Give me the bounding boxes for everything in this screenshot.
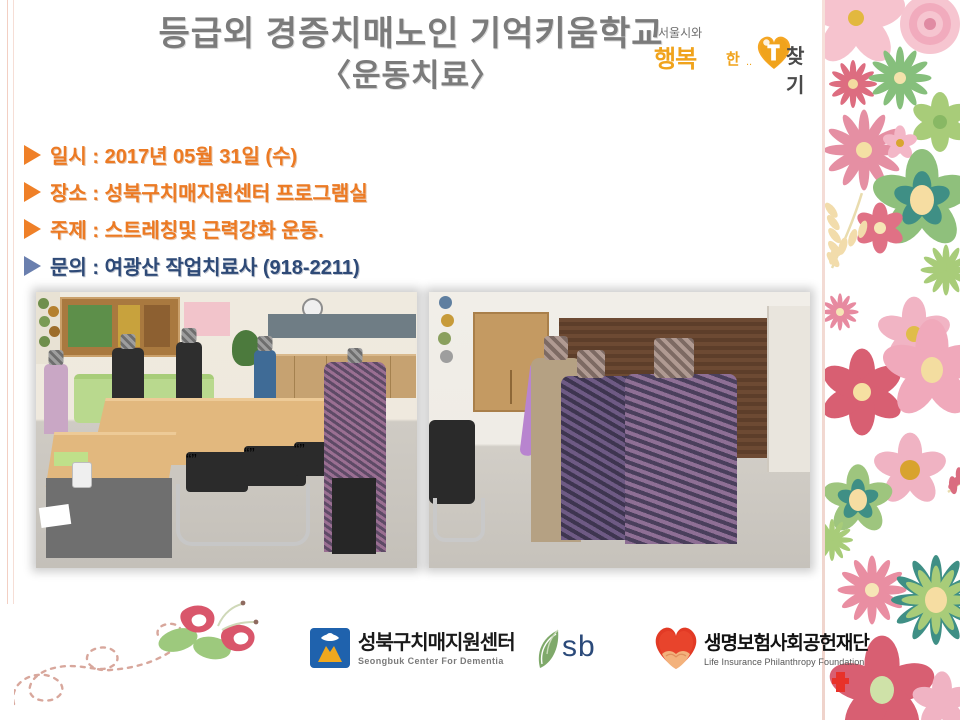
footer-logos: 성북구치매지원센터 Seongbuk Center For Dementia s… [300, 622, 820, 684]
seongbuk-center-name-ko: 성북구치매지원센터 [358, 626, 515, 655]
list-item-label-topic: 주제 : 스트레칭및 근력강화 운동. [50, 214, 324, 243]
list-item-label-place: 장소 : 성북구치매지원센터 프로그램실 [50, 177, 368, 206]
life-insurance-foundation-text: 생명보험사회공헌재단 Life Insurance Philanthropy F… [704, 628, 869, 667]
seongbuk-center-text: 성북구치매지원센터 Seongbuk Center For Dementia [358, 626, 515, 666]
triangle-bullet-icon [24, 219, 41, 239]
participant-foreground [324, 362, 386, 552]
participant [44, 364, 68, 434]
list-item-label-date: 일시 : 2017년 05월 31일 (수) [50, 140, 297, 169]
floral-pattern-svg [822, 0, 960, 720]
triangle-bullet-icon [24, 182, 41, 202]
chair-frame [176, 484, 310, 546]
list-item: 장소 : 성북구치매지원센터 프로그램실 [24, 173, 584, 210]
hands-heart-icon [652, 626, 700, 670]
dotted-trail-icon [14, 624, 182, 704]
office-chair [429, 420, 475, 504]
butterfly-and-trail-svg [14, 586, 304, 706]
sb-leaf-icon [536, 628, 562, 672]
whiteboard [268, 314, 416, 338]
list-item: 일시 : 2017년 05월 31일 (수) [24, 136, 584, 173]
brand-logo-small-text: 한 [726, 48, 740, 69]
sb-wordmark: sb [562, 630, 596, 664]
participant [254, 350, 276, 404]
brand-logo-main-text: 행복 [654, 39, 696, 74]
triangle-bullet-icon [24, 256, 41, 276]
triangle-bullet-icon [24, 145, 41, 165]
bp-monitor [72, 462, 92, 488]
butterfly-icon [156, 601, 259, 663]
photo-gallery [36, 292, 810, 568]
seongbuk-center-name-en: Seongbuk Center For Dementia [358, 656, 515, 666]
life-insurance-name-en: Life Insurance Philanthropy Foundation [704, 657, 869, 667]
seoul-happiness-brand-logo: 서울시와 행복 한 .. 찾기 [652, 24, 812, 82]
list-item: 주제 : 스트레칭및 근력강화 운동. [24, 210, 584, 247]
floral-band-edge-rule [822, 0, 825, 720]
floral-border-pattern [822, 0, 960, 720]
life-insurance-name-ko: 생명보험사회공헌재단 [704, 628, 869, 655]
seongbuk-person-mark-icon [310, 628, 350, 668]
brand-logo-dots: .. [746, 56, 752, 68]
office-chair-frame [433, 498, 485, 542]
photo-partner-shoulder-exercise [429, 292, 810, 568]
slide-canvas: 등급외 경증치매노인 기억키움학교 〈운동치료〉 서울시와 행복 한 .. 찾기… [0, 0, 960, 720]
wall-decoration-discs [435, 296, 463, 366]
detail-list: 일시 : 2017년 05월 31일 (수) 장소 : 성북구치매지원센터 프로… [24, 136, 584, 284]
participant-front [625, 374, 737, 544]
participant-middle [561, 376, 635, 540]
brand-logo-tail-text: 찾기 [786, 40, 812, 98]
list-item-label-contact: 문의 : 여광산 작업치료사 (918-2211) [50, 251, 360, 280]
photo-group-stretching-classroom [36, 292, 417, 568]
butterfly-decoration [14, 586, 304, 706]
paper-sheet [39, 504, 71, 528]
list-item: 문의 : 여광산 작업치료사 (918-2211) [24, 247, 584, 284]
light-wall-panel [767, 306, 810, 472]
